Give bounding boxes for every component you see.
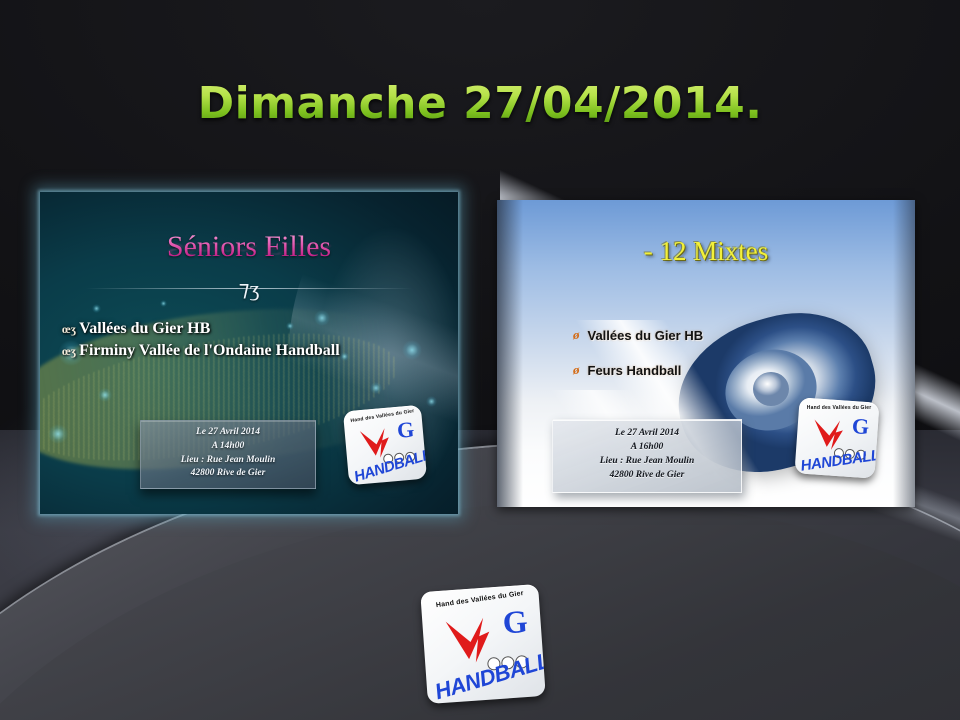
slide-left-title: Séniors Filles (40, 230, 458, 264)
club-logo-letter-g: G (396, 419, 415, 442)
flourish-bullet-icon: œʒ (62, 320, 76, 338)
event-date: Le 27 Avril 2014 (553, 426, 741, 440)
bokeh-dot (426, 396, 437, 407)
club-logo: Hand des Vallées du Gier G HANDBALL (794, 397, 879, 478)
slide-right-title: - 12 Mixtes (497, 236, 915, 267)
slide-thumbnail-seniors-filles[interactable]: Séniors Filles Séniors Filles ⁊ʒ œʒ Vall… (40, 192, 458, 514)
event-time: A 14h00 (141, 440, 315, 454)
slide-left-info-plaque: Le 27 Avril 2014 A 14h00 Lieu : Rue Jean… (140, 420, 316, 489)
oval-bullet-icon: ø (573, 362, 580, 378)
page-title: Dimanche 27/04/2014. (0, 78, 960, 129)
team-name: Vallées du Gier HB (588, 328, 704, 343)
bokeh-dot (370, 382, 382, 394)
event-time: A 16h00 (553, 440, 741, 454)
event-city: 42800 Rive de Gier (553, 468, 741, 482)
club-logo-letter-g: G (851, 415, 870, 438)
list-item: ø Feurs Handball (573, 362, 703, 378)
event-place: Lieu : Rue Jean Moulin (553, 454, 741, 468)
list-item: ø Vallées du Gier HB (573, 327, 703, 343)
team-name: Vallées du Gier HB (79, 320, 210, 338)
event-place: Lieu : Rue Jean Moulin (141, 454, 315, 468)
presentation-slide: Dimanche 27/04/2014. Séniors Filles Séni… (0, 0, 960, 720)
oval-bullet-icon: ø (573, 327, 580, 343)
list-item: œʒ Firminy Vallée de l'Ondaine Handball (62, 342, 392, 360)
slide-thumbnail-12-mixtes[interactable]: - 12 Mixtes ø Vallées du Gier HB ø Feurs… (497, 200, 915, 507)
bokeh-dot (48, 424, 68, 444)
bokeh-dot (98, 388, 112, 402)
club-logo-arc-text: Hand des Vallées du Gier (799, 405, 879, 411)
club-logo-letter-g: G (502, 605, 529, 639)
team-name: Firminy Vallée de l'Ondaine Handball (79, 342, 340, 360)
slide-right-team-list: ø Vallées du Gier HB ø Feurs Handball (573, 327, 703, 397)
club-logo-main: Hand des Vallées du Gier G HANDBALL (420, 584, 546, 704)
list-item: œʒ Vallées du Gier HB (62, 320, 392, 338)
event-date: Le 27 Avril 2014 (141, 426, 315, 440)
club-logo: Hand des Vallées du Gier G HANDBALL (343, 405, 427, 486)
slide-right-info-plaque: Le 27 Avril 2014 A 16h00 Lieu : Rue Jean… (552, 419, 742, 493)
team-name: Feurs Handball (588, 363, 682, 378)
bokeh-dot (92, 304, 101, 313)
flourish-ornament-icon: ⁊ʒ (40, 276, 458, 302)
slide-left-team-list: œʒ Vallées du Gier HB œʒ Firminy Vallée … (62, 320, 392, 364)
event-city: 42800 Rive de Gier (141, 467, 315, 481)
bokeh-dot (402, 340, 422, 360)
flourish-bullet-icon: œʒ (62, 342, 76, 360)
